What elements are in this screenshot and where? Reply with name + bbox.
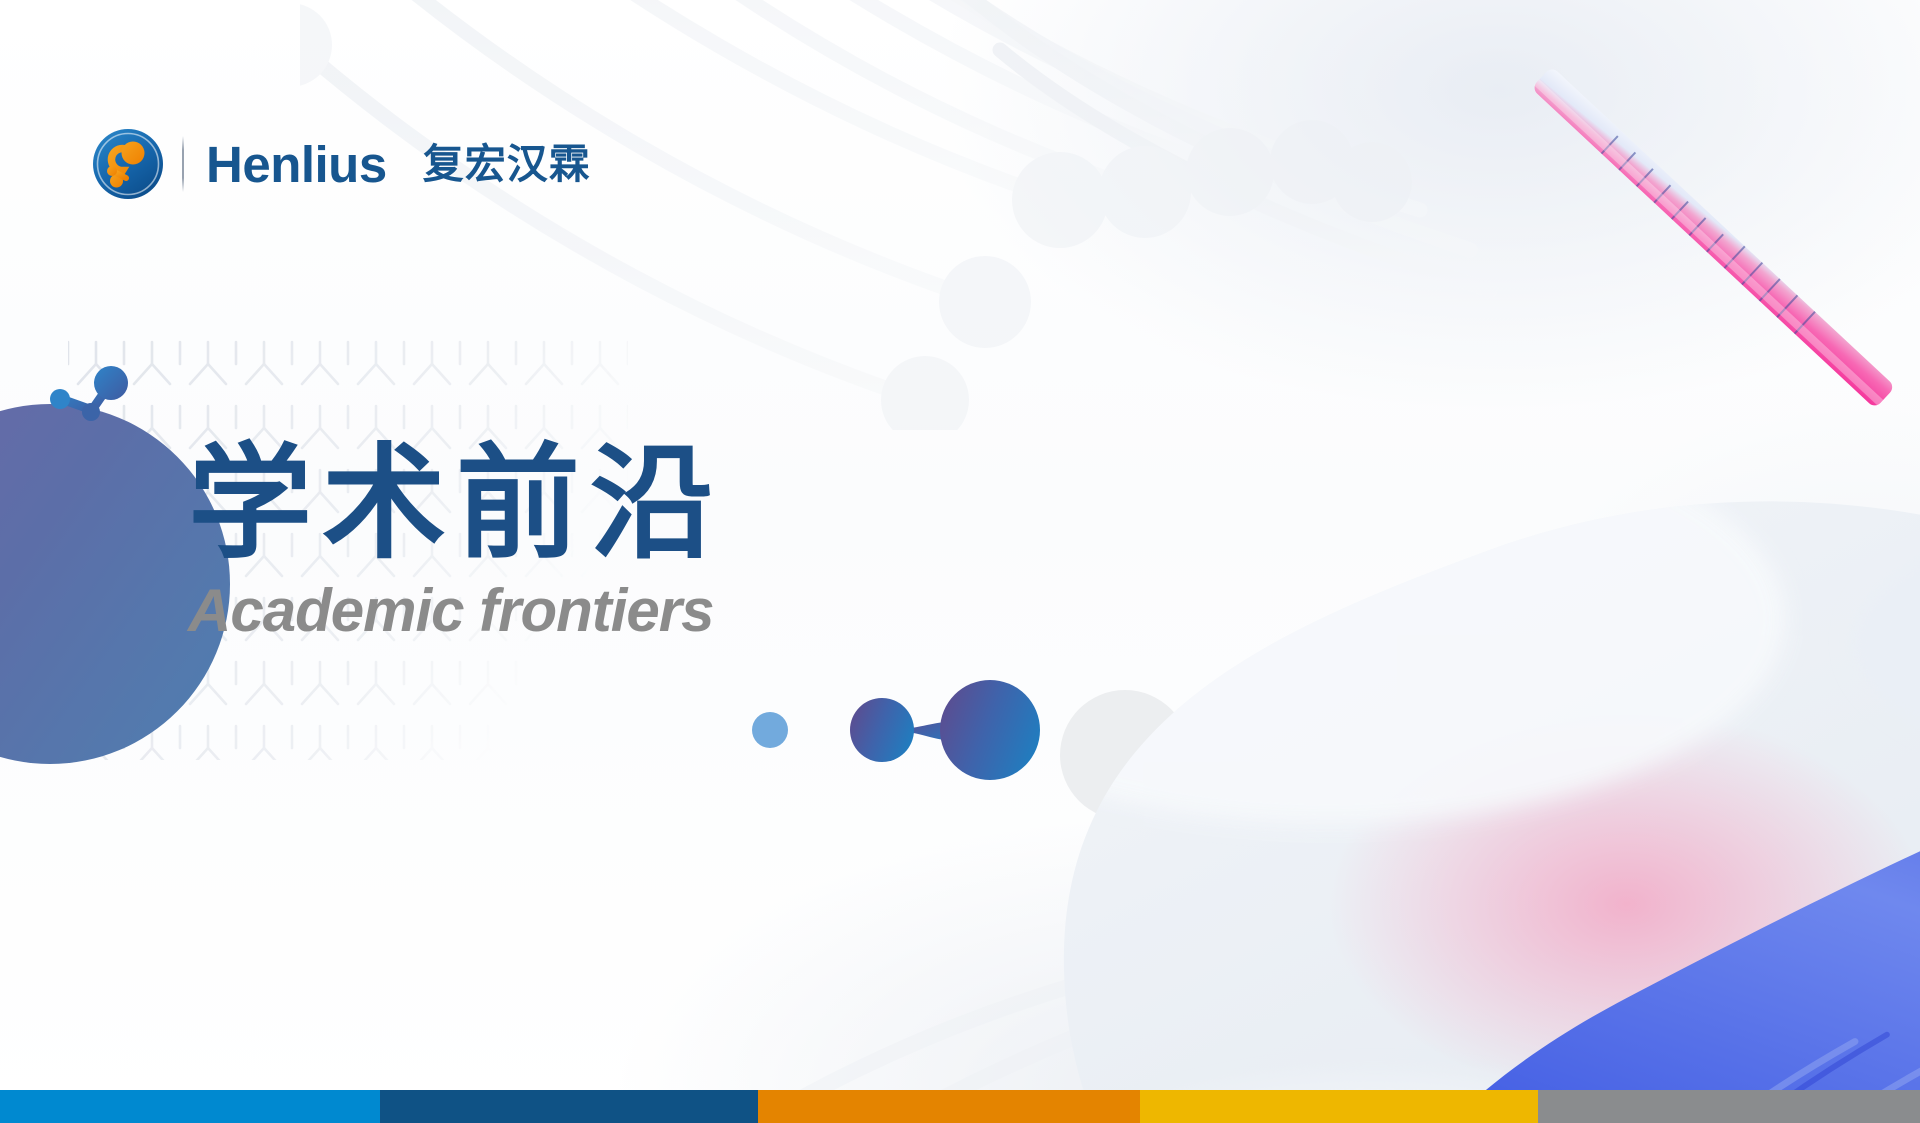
logo-chinese-text: 复宏汉霖 bbox=[423, 144, 591, 185]
page-title-chinese: 学术前沿 bbox=[188, 438, 724, 572]
logo-divider bbox=[182, 136, 184, 192]
logo-english-text: Henlius bbox=[206, 139, 387, 190]
page-subtitle-english: Academic frontiers bbox=[188, 578, 724, 644]
molecule-icon bbox=[40, 362, 150, 454]
lab-pipette-photo bbox=[1055, 400, 1920, 1123]
color-bar-segment-cyan-blue bbox=[0, 1090, 380, 1123]
title-block: 学术前沿 Academic frontiers bbox=[188, 438, 724, 644]
blue-dot-decoration bbox=[752, 712, 788, 748]
slide-root: Henlius 复宏汉霖 学术前沿 Academic frontiers bbox=[0, 0, 1920, 1123]
color-bar-segment-grey bbox=[1538, 1090, 1920, 1123]
henlius-logo-mark-icon bbox=[92, 128, 164, 200]
graduated-pipette-icon bbox=[1510, 30, 1920, 460]
dna-helix-icon bbox=[300, 0, 1500, 430]
molecule-icon bbox=[838, 678, 1048, 782]
brand-logo[interactable]: Henlius 复宏汉霖 bbox=[92, 128, 591, 200]
brand-color-bar bbox=[0, 1090, 1920, 1123]
color-bar-segment-deep-blue bbox=[380, 1090, 758, 1123]
color-bar-segment-orange bbox=[758, 1090, 1140, 1123]
color-bar-segment-yellow bbox=[1140, 1090, 1537, 1123]
